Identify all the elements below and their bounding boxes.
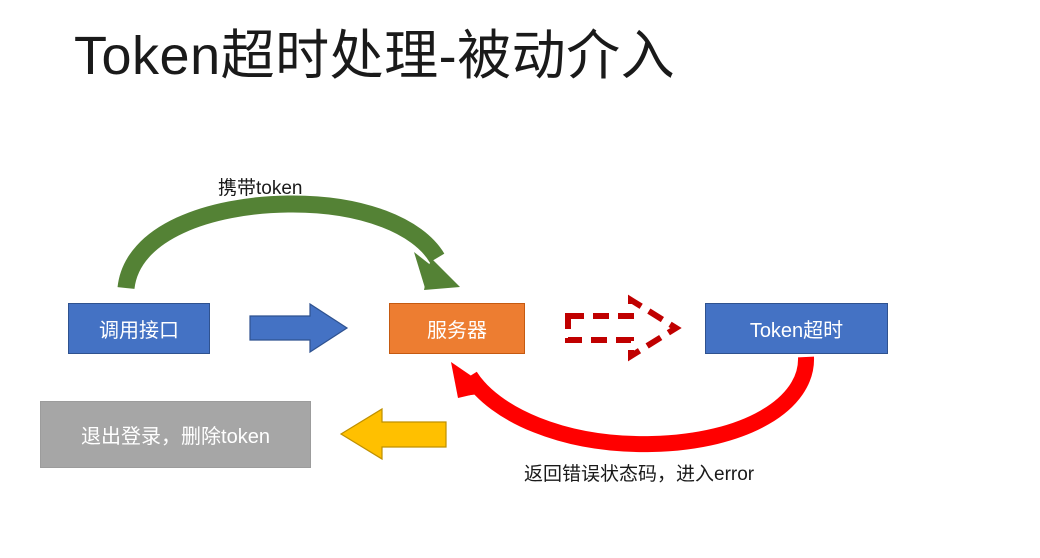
page-title: Token超时处理-被动介入 bbox=[74, 22, 675, 90]
connector-label-error-code: 返回错误状态码，进入error bbox=[524, 459, 754, 486]
red-curved-arrow bbox=[451, 357, 806, 444]
node-token-expired-label: Token超时 bbox=[750, 314, 843, 343]
node-server[interactable]: 服务器 bbox=[389, 303, 525, 354]
node-logout[interactable]: 退出登录，删除token bbox=[40, 401, 311, 468]
node-server-label: 服务器 bbox=[427, 314, 487, 343]
blue-block-arrow bbox=[250, 304, 347, 352]
node-logout-label: 退出登录，删除token bbox=[81, 420, 270, 449]
green-curved-arrow bbox=[126, 204, 460, 290]
connector-label-carry-token: 携带token bbox=[218, 173, 302, 200]
node-token-expired[interactable]: Token超时 bbox=[705, 303, 888, 354]
node-call-api-label: 调用接口 bbox=[99, 314, 179, 343]
red-dashed-block-arrow bbox=[568, 300, 676, 356]
node-call-api[interactable]: 调用接口 bbox=[68, 303, 210, 354]
yellow-block-arrow bbox=[341, 409, 446, 459]
